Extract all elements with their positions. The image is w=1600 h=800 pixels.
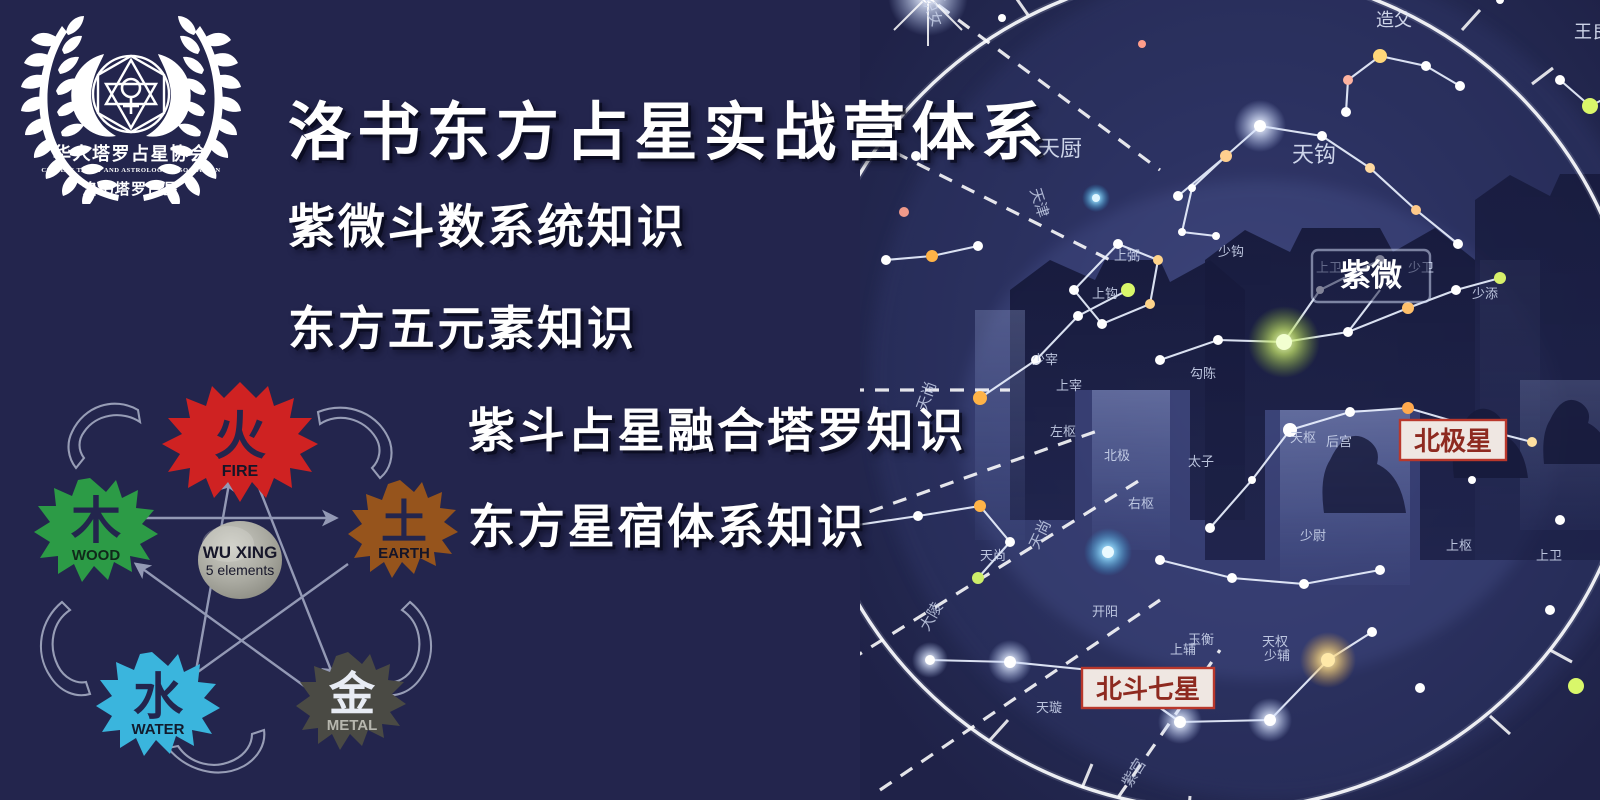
- star-label: 天璇: [1036, 700, 1062, 715]
- wuxing-label-wood: WOOD: [72, 547, 120, 564]
- star-label: 少宰: [1032, 352, 1058, 367]
- star-label: 上卫: [1536, 548, 1562, 563]
- wuxing-label-water: WATER: [131, 721, 184, 738]
- wuxing-label-fire: FIRE: [222, 463, 259, 480]
- wuxing-element-earth: 土 EARTH: [348, 480, 458, 578]
- star-label: 太子: [1188, 454, 1214, 469]
- wuxing-five-elements-diagram: WU XING 5 elements 火 FIRE 土 EARTH 金 META…: [18, 352, 458, 792]
- star-label: 勾陈: [1190, 366, 1216, 381]
- svg-text:水: 水: [133, 669, 184, 725]
- svg-text:紫微: 紫微: [1340, 258, 1402, 293]
- svg-text:火: 火: [214, 409, 266, 466]
- star-label: 少钩: [1218, 244, 1244, 259]
- star-label: 玉衡: [1188, 632, 1214, 647]
- wuxing-center-title: WU XING: [203, 543, 278, 562]
- boxed-label-bigdipper: 北斗七星: [1082, 668, 1214, 708]
- headline-tarot-fusion: 紫斗占星融合塔罗知识: [468, 392, 966, 461]
- star-label: 少尉: [1300, 528, 1326, 543]
- wuxing-label-metal: METAL: [327, 717, 378, 734]
- wuxing-label-earth: EARTH: [378, 545, 430, 562]
- wuxing-element-metal: 金 METAL: [296, 652, 406, 750]
- headline-mansions-system: 东方星宿体系知识: [468, 488, 867, 557]
- star-label: 北极: [1104, 448, 1130, 463]
- laurel-right-icon: [143, 16, 241, 204]
- star-label: 造父: [1376, 10, 1412, 30]
- star-label: 左枢: [1050, 424, 1076, 439]
- star-label: 少辅: [1264, 648, 1290, 663]
- astrology-course-banner: 造父 王良 天钩 天厨 上卫 少卫 少添 少钩 上钩 少宰 上宰 上弼 左枢 太…: [0, 0, 1600, 800]
- svg-text:北斗七星: 北斗七星: [1096, 675, 1200, 704]
- star-label: 天钩: [1292, 142, 1336, 167]
- wuxing-center-hub: WU XING 5 elements: [198, 521, 282, 599]
- star-label: 王良: [1574, 22, 1600, 42]
- boxed-label-ziwei: 紫微: [1312, 250, 1430, 302]
- association-logo: 华人塔罗占星协会 CHINESE TAROT AND ASTROLOGY ASS…: [18, 8, 244, 204]
- wuxing-center-subtitle: 5 elements: [206, 562, 274, 578]
- star-label: 右枢: [1128, 496, 1154, 511]
- star-label: 上宰: [1056, 378, 1082, 393]
- laurel-left-icon: [21, 16, 119, 204]
- headline-five-elements: 东方五元素知识: [288, 290, 637, 359]
- svg-text:北极星: 北极星: [1414, 427, 1492, 456]
- page-title: 洛书东方占星实战营体系: [288, 82, 1050, 173]
- svg-text:木: 木: [71, 493, 121, 549]
- star-label: 天尚: [980, 548, 1006, 563]
- hexagram-venus-icon: [93, 56, 169, 132]
- star-label: 天权: [1262, 634, 1288, 649]
- boxed-label-polestar: 北极星: [1400, 420, 1506, 460]
- star-label: 上钩: [1092, 286, 1118, 301]
- star-label: 开阳: [1092, 604, 1118, 619]
- star-label: 上弼: [1114, 248, 1140, 263]
- logo-org-name-en: CHINESE TAROT AND ASTROLOGY ASSOCIATION: [41, 167, 220, 174]
- logo-brand-cn: 洛书塔罗占星: [82, 180, 179, 198]
- logo-org-name-cn: 华人塔罗占星协会: [53, 143, 209, 164]
- svg-text:金: 金: [328, 669, 376, 720]
- star-label: 上枢: [1446, 538, 1472, 553]
- svg-text:土: 土: [381, 497, 427, 548]
- star-label: 后宫: [1326, 434, 1352, 449]
- star-label: 天枢: [1290, 430, 1316, 445]
- wuxing-element-fire: 火 FIRE: [162, 382, 318, 502]
- star-label: 少添: [1472, 286, 1498, 301]
- headline-ziwei-doushu: 紫微斗数系统知识: [288, 188, 687, 257]
- wuxing-element-water: 水 WATER: [96, 652, 220, 756]
